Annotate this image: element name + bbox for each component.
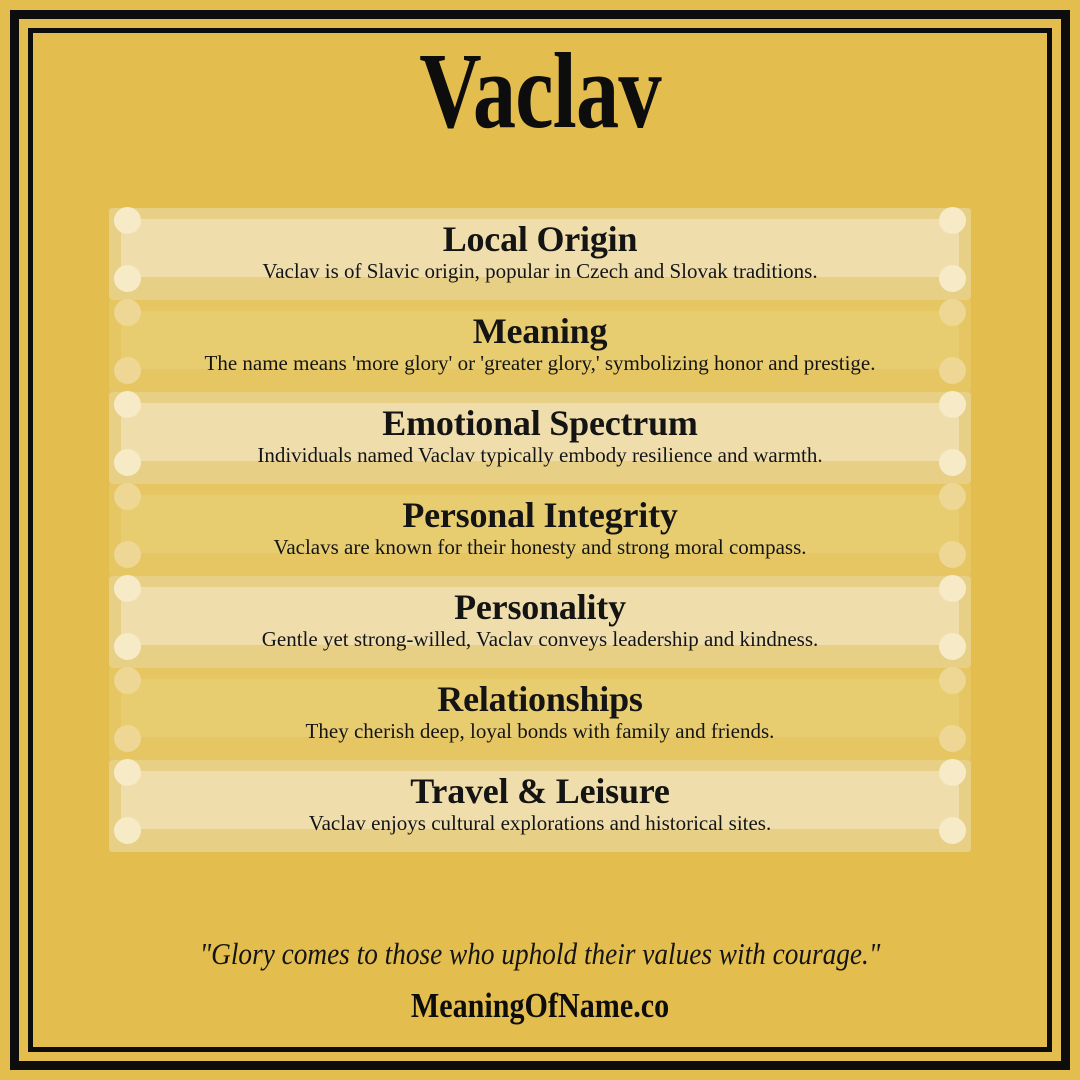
card-text-block: Travel & LeisureVaclav enjoys cultural e… [109,760,971,834]
card-text-block: MeaningThe name means 'more glory' or 'g… [109,300,971,374]
card-text-block: PersonalityGentle yet strong-willed, Vac… [109,576,971,650]
card-text-block: Emotional SpectrumIndividuals named Vacl… [109,392,971,466]
attribute-card: PersonalityGentle yet strong-willed, Vac… [109,576,971,668]
card-heading: Personality [109,576,971,625]
poster-stage: Vaclav Local OriginVaclav is of Slavic o… [33,33,1047,1047]
card-heading: Personal Integrity [109,484,971,533]
attribute-card-list: Local OriginVaclav is of Slavic origin, … [33,208,1047,852]
attribute-card: Travel & LeisureVaclav enjoys cultural e… [109,760,971,852]
card-heading: Meaning [109,300,971,349]
quote-text: "Glory comes to those who uphold their v… [94,938,986,969]
card-text-block: Personal IntegrityVaclavs are known for … [109,484,971,558]
attribute-card: Emotional SpectrumIndividuals named Vacl… [109,392,971,484]
card-heading: Relationships [109,668,971,717]
brand-footer: MeaningOfName.co [104,988,976,1023]
attribute-card: MeaningThe name means 'more glory' or 'g… [109,300,971,392]
card-body: The name means 'more glory' or 'greater … [109,353,971,374]
card-body: Vaclav enjoys cultural explorations and … [109,813,971,834]
card-body: Vaclavs are known for their honesty and … [109,537,971,558]
card-body: Individuals named Vaclav typically embod… [109,445,971,466]
card-body: They cherish deep, loyal bonds with fami… [109,721,971,742]
card-text-block: Local OriginVaclav is of Slavic origin, … [109,208,971,282]
card-body: Gentle yet strong-willed, Vaclav conveys… [109,629,971,650]
attribute-card: RelationshipsThey cherish deep, loyal bo… [109,668,971,760]
page-title: Vaclav [134,38,945,146]
card-text-block: RelationshipsThey cherish deep, loyal bo… [109,668,971,742]
card-heading: Emotional Spectrum [109,392,971,441]
attribute-card: Local OriginVaclav is of Slavic origin, … [109,208,971,300]
attribute-card: Personal IntegrityVaclavs are known for … [109,484,971,576]
card-body: Vaclav is of Slavic origin, popular in C… [109,261,971,282]
card-heading: Travel & Leisure [109,760,971,809]
card-heading: Local Origin [109,208,971,257]
poster: Vaclav Local OriginVaclav is of Slavic o… [0,0,1080,1080]
